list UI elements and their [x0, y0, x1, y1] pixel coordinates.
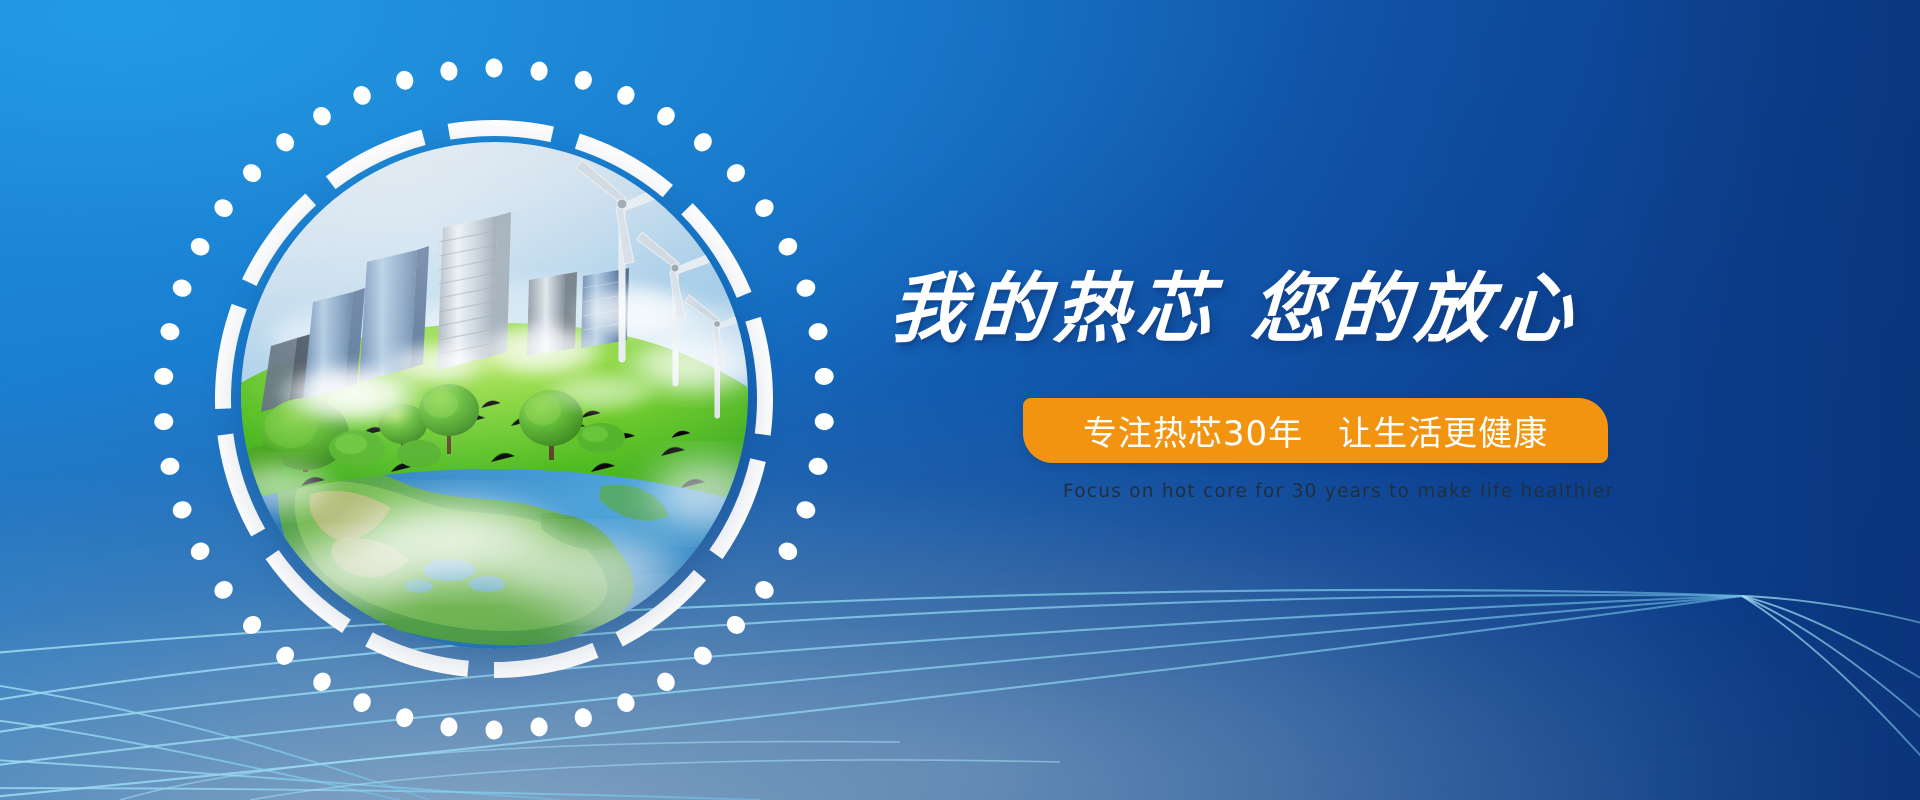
ring-dot: [573, 69, 594, 92]
ring-dot: [188, 235, 213, 259]
ring-dot: [814, 412, 834, 430]
ring-dot: [439, 716, 458, 737]
tagline-badge-text: 专注热芯30年 让生活更健康: [1083, 406, 1548, 455]
ring-dot: [529, 61, 548, 82]
ring-dot: [654, 669, 678, 694]
ring-dot: [752, 577, 777, 602]
ring-dot: [154, 412, 174, 430]
ring-dot: [614, 83, 637, 107]
ring-dot: [273, 643, 298, 668]
ring-dot: [723, 612, 748, 637]
ring-dot: [351, 83, 374, 107]
ring-dot: [794, 499, 818, 521]
ring-dot: [814, 367, 834, 385]
ring-dot: [211, 196, 236, 221]
ring-dot: [690, 130, 715, 155]
ring-dot: [614, 690, 637, 714]
ring-dot: [310, 669, 334, 694]
ring-dot: [154, 367, 174, 385]
ring-dot: [159, 321, 181, 342]
ring-dot: [776, 539, 801, 563]
ring-dot: [239, 612, 264, 637]
ring-dot: [211, 577, 236, 602]
english-subtitle: Focus on hot core for 30 years to make l…: [1063, 481, 1583, 502]
ring-dot: [394, 69, 415, 92]
ring-dot: [807, 321, 829, 342]
ring-dot: [752, 196, 777, 221]
ring-dot: [529, 716, 548, 737]
ring-dot: [310, 104, 334, 129]
globe-illustration: [241, 142, 748, 649]
ring-dot: [170, 499, 194, 521]
ring-dot: [188, 539, 213, 563]
ring-dot: [807, 456, 829, 477]
ring-dot: [486, 721, 503, 740]
ring-dot: [170, 277, 194, 299]
ring-dot: [486, 59, 503, 78]
ring-dot: [776, 235, 801, 259]
ring-dot: [723, 160, 748, 185]
ring-dot: [573, 706, 594, 729]
ring-dot: [654, 104, 678, 129]
ring-dot: [159, 456, 181, 477]
ring-dot: [439, 61, 458, 82]
ring-dot: [690, 643, 715, 668]
earth-globe-image: [241, 142, 748, 649]
tagline-badge: 专注热芯30年 让生活更健康: [1023, 398, 1608, 463]
ring-dot: [273, 130, 298, 155]
ring-dot: [239, 160, 264, 185]
hero-banner: 我的热芯 您的放心 专注热芯30年 让生活更健康 Focus on hot co…: [0, 0, 1920, 800]
ring-dot: [394, 706, 415, 729]
headline: 我的热芯 您的放心: [888, 268, 1652, 350]
globe-sphere-shading: [241, 142, 748, 649]
ring-dot: [351, 690, 374, 714]
ring-dot: [794, 277, 818, 299]
